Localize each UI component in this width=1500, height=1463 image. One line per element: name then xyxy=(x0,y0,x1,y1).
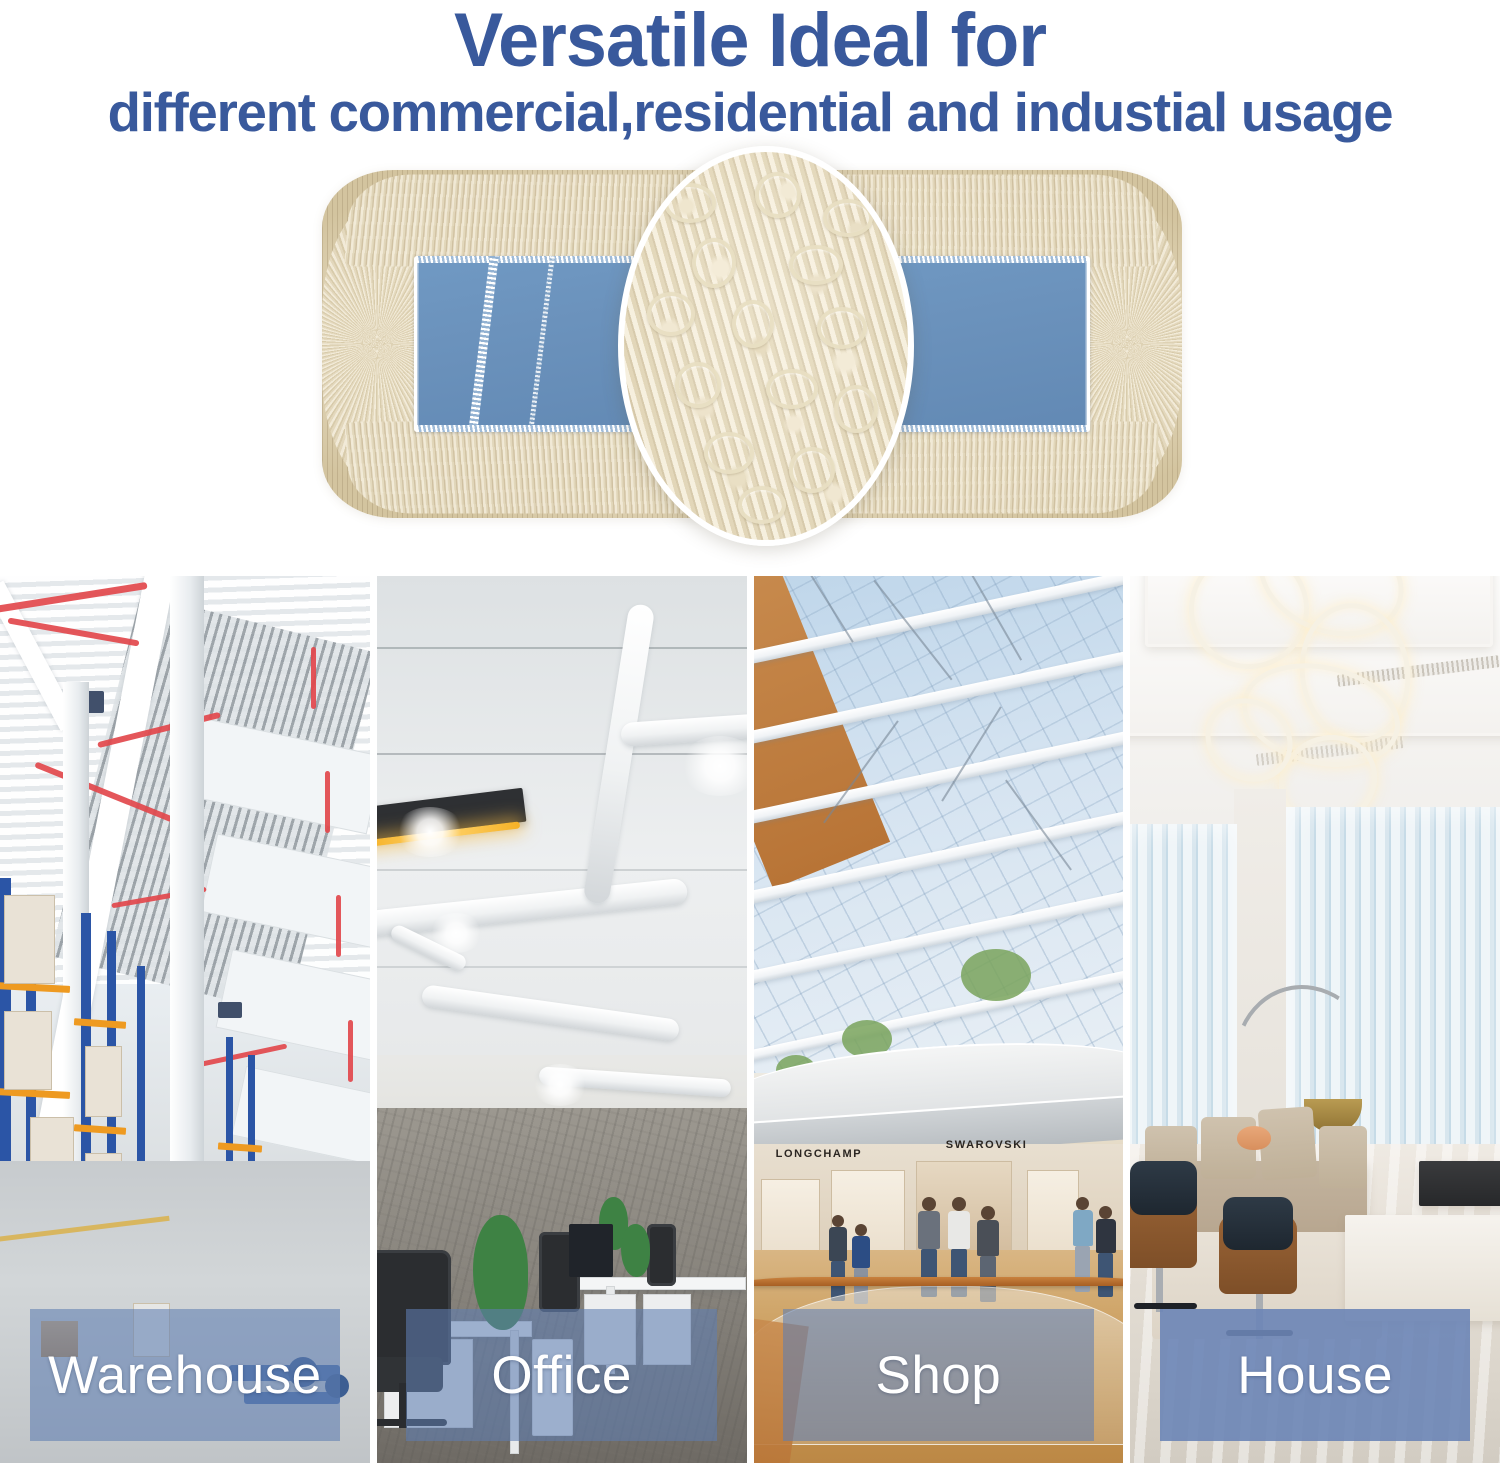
use-case-panel-shop[interactable]: LONGCHAMP SWAROVSKI xyxy=(754,576,1124,1463)
use-case-panel-office[interactable]: Office xyxy=(377,576,747,1463)
product-hero xyxy=(0,152,1500,532)
use-case-label-box-shop: Shop xyxy=(783,1309,1094,1441)
pocket-seam-stitch-secondary xyxy=(528,256,555,432)
use-case-label-box-house: House xyxy=(1160,1309,1471,1441)
use-case-label-shop: Shop xyxy=(875,1345,1001,1406)
use-case-label-warehouse: Warehouse xyxy=(48,1345,322,1406)
page-subtitle: different commercial,residential and ind… xyxy=(8,84,1493,142)
use-case-label-box-office: Office xyxy=(406,1309,717,1441)
dust-mop-product-image xyxy=(322,170,1182,518)
use-case-label-box-warehouse: Warehouse xyxy=(30,1309,341,1441)
use-case-panel-house[interactable]: House xyxy=(1130,576,1500,1463)
storefront-sign-longchamp: LONGCHAMP xyxy=(776,1148,863,1160)
use-case-panel-warehouse[interactable]: Warehouse xyxy=(0,576,370,1463)
use-case-label-house: House xyxy=(1237,1345,1393,1406)
use-case-label-office: Office xyxy=(491,1345,631,1406)
pocket-seam-stitch xyxy=(468,256,499,432)
header-block: Versatile Ideal for different commercial… xyxy=(0,0,1500,142)
page-title: Versatile Ideal for xyxy=(23,4,1478,78)
yarn-closeup-magnifier xyxy=(618,146,914,546)
storefront-sign-swarovski: SWAROVSKI xyxy=(946,1139,1028,1151)
use-case-gallery: Warehouse xyxy=(0,576,1500,1463)
